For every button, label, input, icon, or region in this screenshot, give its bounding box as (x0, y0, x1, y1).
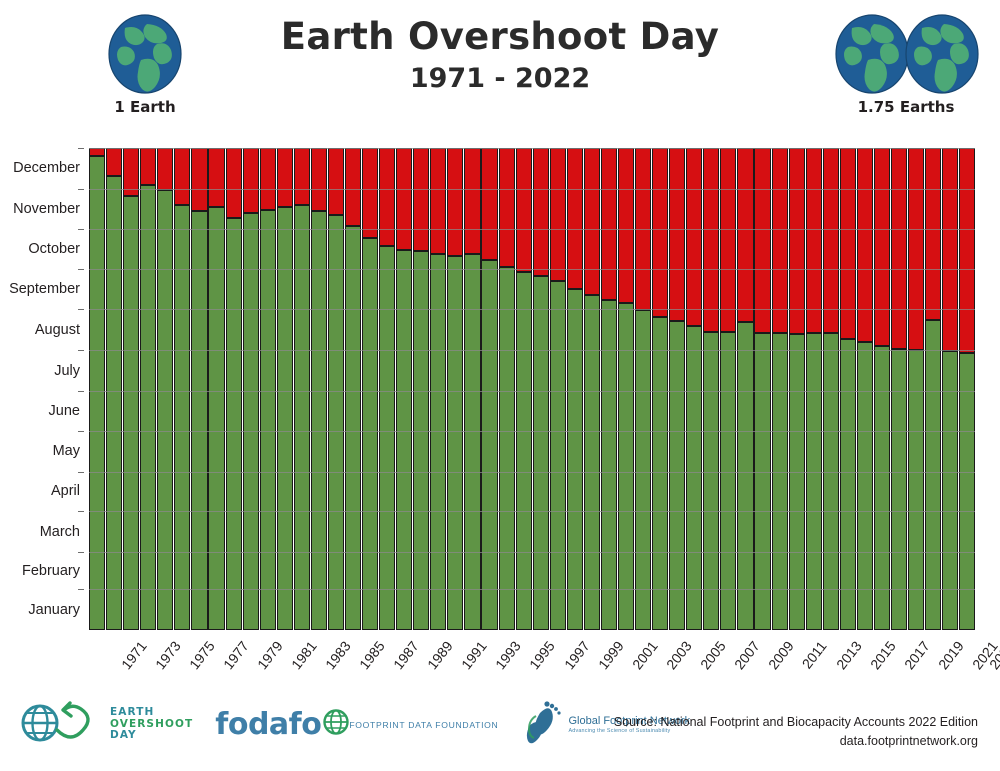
bar-segment-within-biocapacity (703, 332, 719, 630)
earth-overshoot-day-logo: EARTH OVERSHOOT DAY (18, 700, 193, 749)
bar-1991[interactable] (430, 148, 446, 630)
y-axis-tick (78, 269, 84, 270)
bar-segment-within-biocapacity (857, 342, 873, 630)
one-point-seven-five-earths-indicator: 1.75 Earths (826, 14, 986, 116)
eod-line-1: EARTH (110, 707, 193, 719)
x-axis-label-2007: 2007 (731, 638, 763, 672)
bar-2005[interactable] (669, 148, 685, 630)
y-axis-tick (78, 472, 84, 473)
y-axis-tick (78, 189, 84, 190)
x-axis-label-2015: 2015 (867, 638, 899, 672)
bar-segment-within-biocapacity (601, 300, 617, 630)
bar-segment-within-biocapacity (191, 211, 207, 630)
one-earth-indicator: 1 Earth (85, 14, 205, 116)
bar-2004[interactable] (652, 148, 668, 630)
bar-segment-overshoot (959, 148, 975, 353)
bar-segment-overshoot (806, 148, 822, 333)
y-axis-label-april: April (51, 483, 80, 499)
bar-segment-overshoot (174, 148, 190, 205)
bar-segment-overshoot (584, 148, 600, 295)
bar-segment-within-biocapacity (550, 281, 566, 630)
bar-2000[interactable] (584, 148, 600, 630)
x-axis-label-2017: 2017 (901, 638, 933, 672)
bar-segment-overshoot (737, 148, 753, 322)
bar-segment-within-biocapacity (516, 272, 532, 630)
bar-segment-within-biocapacity (311, 211, 327, 630)
bar-1974[interactable] (140, 148, 156, 630)
x-axis-label-1975: 1975 (186, 638, 218, 672)
bar-1981[interactable] (260, 148, 276, 630)
y-axis-tick (78, 350, 84, 351)
bar-segment-within-biocapacity (618, 303, 634, 630)
bar-segment-overshoot (516, 148, 532, 272)
bar-segment-within-biocapacity (840, 339, 856, 630)
bar-segment-overshoot (362, 148, 378, 238)
bar-segment-overshoot (567, 148, 583, 289)
bar-segment-within-biocapacity (789, 334, 805, 630)
bar-1996[interactable] (516, 148, 532, 630)
bar-1971[interactable] (89, 148, 105, 630)
source-line-1: Source: National Footprint and Biocapaci… (614, 713, 978, 732)
fodafo-tagline: FOOTPRINT DATA FOUNDATION (349, 720, 498, 730)
bar-segment-overshoot (550, 148, 566, 281)
bar-1979[interactable] (226, 148, 242, 630)
bar-2001[interactable] (601, 148, 617, 630)
x-axis-label-2011: 2011 (799, 638, 830, 672)
bar-segment-within-biocapacity (447, 256, 463, 630)
earths-count-label: 1.75 Earths (826, 98, 986, 116)
x-axis-label-1981: 1981 (288, 638, 320, 672)
bar-segment-within-biocapacity (669, 321, 685, 630)
bar-segment-within-biocapacity (413, 251, 429, 630)
bar-2017[interactable] (874, 148, 890, 630)
bar-2018[interactable] (891, 148, 907, 630)
fodafo-logo: fodafo FOOTPRINT DATA FOUNDATION (215, 707, 498, 742)
y-axis-tick (78, 391, 84, 392)
globe-icon (834, 14, 910, 99)
bar-2021[interactable] (942, 148, 958, 630)
bar-segment-within-biocapacity (140, 185, 156, 630)
bar-segment-overshoot (208, 148, 224, 207)
overshoot-bar-chart: JanuaryFebruaryMarchAprilMayJuneJulyAugu… (0, 132, 1000, 652)
x-axis-label-1995: 1995 (526, 638, 558, 672)
x-axis-label-1999: 1999 (595, 638, 627, 672)
bar-1999[interactable] (567, 148, 583, 630)
title-block: Earth Overshoot Day 1971 - 2022 (250, 18, 750, 94)
bar-segment-within-biocapacity (277, 207, 293, 630)
bar-segment-overshoot (908, 148, 924, 350)
bar-segment-overshoot (191, 148, 207, 211)
bar-1983[interactable] (294, 148, 310, 630)
bar-1982[interactable] (277, 148, 293, 630)
bar-segment-overshoot (840, 148, 856, 339)
y-axis-label-january: January (28, 602, 80, 618)
x-axis-label-2005: 2005 (697, 638, 729, 672)
page-subtitle: 1971 - 2022 (250, 63, 750, 94)
eod-wordmark: EARTH OVERSHOOT DAY (110, 707, 193, 742)
bar-segment-within-biocapacity (123, 196, 139, 630)
bar-segment-within-biocapacity (345, 226, 361, 630)
bar-1978[interactable] (208, 148, 224, 630)
x-axis-label-1997: 1997 (560, 638, 592, 672)
bar-1993[interactable] (464, 148, 480, 630)
x-axis-label-1985: 1985 (356, 638, 388, 672)
bar-segment-within-biocapacity (652, 317, 668, 630)
bar-segment-within-biocapacity (533, 276, 549, 630)
bar-segment-overshoot (396, 148, 412, 250)
bar-segment-within-biocapacity (772, 333, 788, 630)
y-axis-tick (78, 589, 84, 590)
bar-1984[interactable] (311, 148, 327, 630)
bar-2013[interactable] (806, 148, 822, 630)
one-earth-label: 1 Earth (85, 98, 205, 116)
bar-1977[interactable] (191, 148, 207, 630)
x-axis-label-2019: 2019 (935, 638, 967, 672)
bar-segment-overshoot (942, 148, 958, 351)
bar-segment-within-biocapacity (464, 254, 480, 630)
bar-segment-within-biocapacity (174, 205, 190, 630)
bar-segment-overshoot (857, 148, 873, 342)
bar-1998[interactable] (550, 148, 566, 630)
y-axis: JanuaryFebruaryMarchAprilMayJuneJulyAugu… (0, 148, 84, 630)
bar-1986[interactable] (345, 148, 361, 630)
bar-segment-within-biocapacity (157, 190, 173, 630)
bar-1973[interactable] (123, 148, 139, 630)
bar-2014[interactable] (823, 148, 839, 630)
bar-segment-overshoot (89, 148, 105, 156)
bar-1975[interactable] (157, 148, 173, 630)
bar-1994[interactable] (481, 148, 497, 630)
bar-segment-overshoot (635, 148, 651, 310)
bar-segment-within-biocapacity (925, 320, 941, 630)
bar-segment-overshoot (464, 148, 480, 254)
bar-segment-overshoot (891, 148, 907, 349)
bar-segment-within-biocapacity (635, 310, 651, 630)
fodafo-wordmark: fodafo (215, 707, 321, 742)
bar-segment-overshoot (618, 148, 634, 303)
bar-segment-overshoot (789, 148, 805, 334)
logo-strip: EARTH OVERSHOOT DAY fodafo FOOTPR (18, 699, 690, 750)
bar-segment-overshoot (260, 148, 276, 210)
bar-1972[interactable] (106, 148, 122, 630)
bar-segment-within-biocapacity (499, 267, 515, 630)
bar-segment-overshoot (430, 148, 446, 254)
bar-segment-within-biocapacity (106, 176, 122, 630)
y-axis-label-may: May (53, 443, 80, 459)
globe-icon (323, 709, 349, 740)
bar-segment-overshoot (686, 148, 702, 326)
bar-segment-overshoot (226, 148, 242, 218)
x-axis-label-1979: 1979 (254, 638, 286, 672)
bar-segment-overshoot (106, 148, 122, 176)
y-axis-label-august: August (35, 322, 80, 338)
eod-line-3: DAY (110, 730, 193, 742)
bar-segment-within-biocapacity (328, 215, 344, 630)
bar-2019[interactable] (908, 148, 924, 630)
y-axis-label-july: July (54, 363, 80, 379)
source-line-2: data.footprintnetwork.org (614, 732, 978, 751)
page-title: Earth Overshoot Day (250, 18, 750, 57)
bar-segment-within-biocapacity (806, 333, 822, 630)
bar-segment-within-biocapacity (243, 213, 259, 630)
bar-segment-within-biocapacity (481, 260, 497, 630)
x-axis-label-1977: 1977 (220, 638, 252, 672)
bar-segment-within-biocapacity (823, 333, 839, 630)
bar-segment-overshoot (652, 148, 668, 317)
y-axis-tick (78, 511, 84, 512)
bar-2008[interactable] (720, 148, 736, 630)
y-axis-tick (78, 148, 84, 149)
bar-segment-overshoot (311, 148, 327, 211)
bar-2011[interactable] (772, 148, 788, 630)
bar-2016[interactable] (857, 148, 873, 630)
bar-2009[interactable] (737, 148, 753, 630)
y-axis-label-december: December (13, 160, 80, 176)
x-axis-label-1983: 1983 (322, 638, 354, 672)
bar-segment-within-biocapacity (260, 210, 276, 630)
chart-header: 1 Earth Earth Overshoot Day 1971 - 2022 (0, 0, 1000, 132)
x-axis-label-1987: 1987 (390, 638, 422, 672)
bar-segment-within-biocapacity (379, 246, 395, 630)
x-axis-label-1973: 1973 (152, 638, 184, 672)
bar-segment-overshoot (669, 148, 685, 321)
bar-segment-overshoot (277, 148, 293, 207)
bar-segment-overshoot (157, 148, 173, 190)
bar-2015[interactable] (840, 148, 856, 630)
bar-segment-overshoot (447, 148, 463, 256)
y-axis-label-june: June (49, 403, 80, 419)
bar-1990[interactable] (413, 148, 429, 630)
y-axis-tick (78, 309, 84, 310)
bar-1988[interactable] (379, 148, 395, 630)
bar-1985[interactable] (328, 148, 344, 630)
bar-segment-overshoot (481, 148, 497, 260)
bar-2006[interactable] (686, 148, 702, 630)
bar-segment-within-biocapacity (584, 295, 600, 630)
x-axis-label-1991: 1991 (458, 638, 490, 672)
bar-segment-overshoot (823, 148, 839, 333)
bar-segment-within-biocapacity (294, 205, 310, 630)
bar-1995[interactable] (499, 148, 515, 630)
bar-1980[interactable] (243, 148, 259, 630)
x-axis-label-2013: 2013 (833, 638, 865, 672)
bar-segment-overshoot (772, 148, 788, 333)
bar-1976[interactable] (174, 148, 190, 630)
bar-segment-overshoot (379, 148, 395, 246)
x-axis-label-1971: 1971 (117, 638, 149, 672)
bar-segment-within-biocapacity (942, 351, 958, 630)
source-attribution: Source: National Footprint and Biocapaci… (614, 713, 978, 751)
bar-segment-within-biocapacity (226, 218, 242, 630)
bar-2020[interactable] (925, 148, 941, 630)
bar-1997[interactable] (533, 148, 549, 630)
y-axis-label-march: March (40, 524, 80, 540)
bar-segment-within-biocapacity (567, 289, 583, 630)
bar-1992[interactable] (447, 148, 463, 630)
bar-2010[interactable] (754, 148, 770, 630)
bar-segment-within-biocapacity (396, 250, 412, 630)
bar-segment-overshoot (294, 148, 310, 205)
bar-segment-overshoot (533, 148, 549, 276)
bar-2007[interactable] (703, 148, 719, 630)
bar-segment-within-biocapacity (208, 207, 224, 630)
bar-segment-within-biocapacity (89, 156, 105, 630)
x-axis-label-1993: 1993 (492, 638, 524, 672)
bar-2002[interactable] (618, 148, 634, 630)
bar-segment-within-biocapacity (754, 333, 770, 630)
globe-icon-partial (904, 14, 980, 99)
bar-2012[interactable] (789, 148, 805, 630)
y-axis-label-february: February (22, 563, 80, 579)
y-axis-tick (78, 431, 84, 432)
bar-segment-overshoot (243, 148, 259, 213)
bar-1987[interactable] (362, 148, 378, 630)
y-axis-label-october: October (28, 241, 80, 257)
x-axis-label-1989: 1989 (424, 638, 456, 672)
bar-segment-overshoot (140, 148, 156, 185)
x-axis-label-2009: 2009 (765, 638, 797, 672)
y-axis-tick (78, 552, 84, 553)
bar-segment-overshoot (720, 148, 736, 332)
plot-area (89, 148, 975, 630)
x-axis-label-2003: 2003 (663, 638, 695, 672)
bar-segment-overshoot (345, 148, 361, 226)
y-axis-label-september: September (9, 281, 80, 297)
footprint-icon (520, 699, 564, 750)
bar-segment-overshoot (703, 148, 719, 332)
bar-segment-overshoot (925, 148, 941, 320)
y-axis-label-november: November (13, 201, 80, 217)
bar-segment-overshoot (123, 148, 139, 196)
bar-series (89, 148, 975, 630)
bar-segment-within-biocapacity (908, 350, 924, 630)
x-axis-label-2001: 2001 (629, 638, 661, 672)
bar-segment-within-biocapacity (959, 353, 975, 630)
y-axis-tick (78, 229, 84, 230)
bar-segment-overshoot (874, 148, 890, 346)
bar-segment-overshoot (601, 148, 617, 300)
bar-segment-within-biocapacity (720, 332, 736, 630)
bar-2022[interactable] (959, 148, 975, 630)
globe-infinity-icon (18, 700, 104, 749)
bar-segment-overshoot (754, 148, 770, 333)
bar-segment-within-biocapacity (891, 349, 907, 630)
bar-segment-overshoot (413, 148, 429, 251)
bar-1989[interactable] (396, 148, 412, 630)
bar-segment-overshoot (499, 148, 515, 267)
globe-icon (107, 14, 183, 99)
bar-segment-within-biocapacity (737, 322, 753, 630)
bar-segment-within-biocapacity (362, 238, 378, 630)
bar-2003[interactable] (635, 148, 651, 630)
bar-segment-within-biocapacity (686, 326, 702, 630)
bar-segment-overshoot (328, 148, 344, 215)
bar-segment-within-biocapacity (430, 254, 446, 630)
chart-footer: EARTH OVERSHOOT DAY fodafo FOOTPR (0, 695, 1000, 771)
bar-segment-within-biocapacity (874, 346, 890, 630)
